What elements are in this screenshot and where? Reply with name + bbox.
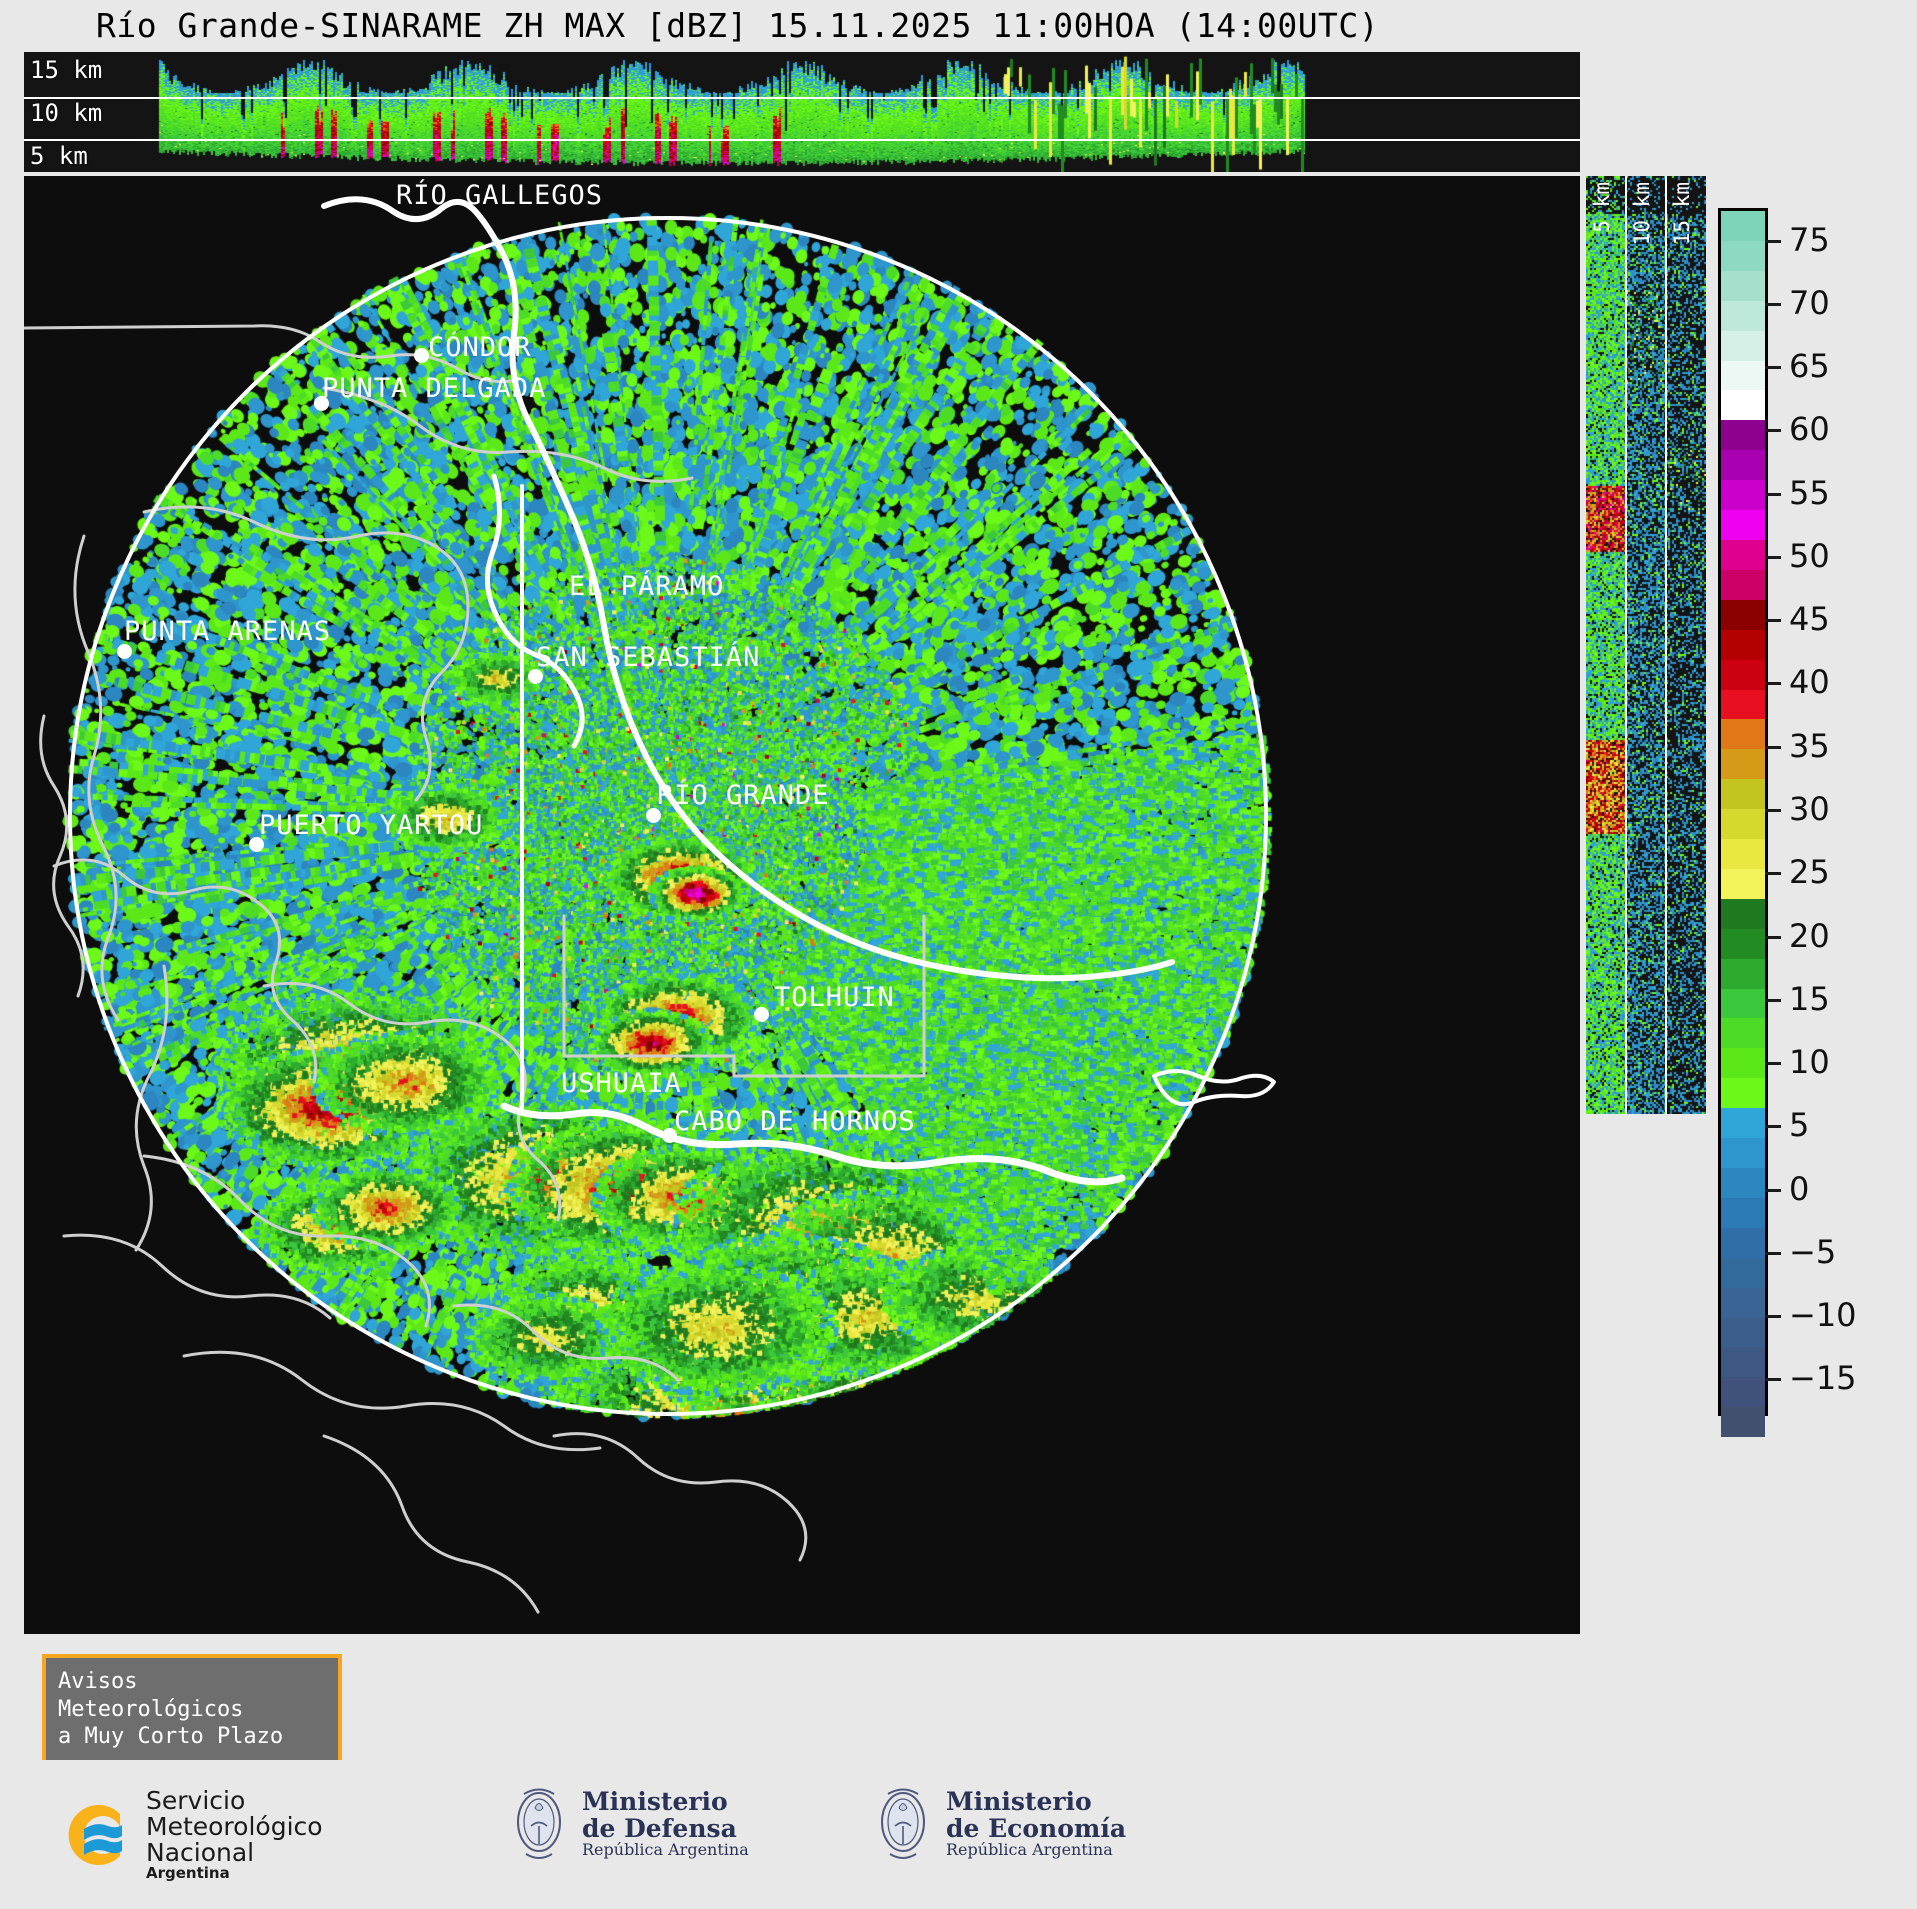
colorbar-swatch — [1721, 1048, 1765, 1078]
avisos-line-2: a Muy Corto Plazo — [58, 1723, 326, 1751]
colorbar-tick-label: 15 — [1789, 980, 1830, 1018]
defensa-line-2: de Defensa — [582, 1816, 749, 1842]
map-outline — [75, 536, 118, 1020]
range-ring — [70, 218, 1266, 1414]
economia-line-2: de Economía — [946, 1816, 1126, 1842]
map-outline — [41, 716, 83, 996]
colorbar-swatch — [1721, 420, 1765, 450]
colorbar-swatch — [1721, 989, 1765, 1019]
colorbar-swatch — [1721, 1377, 1765, 1407]
colorbar-swatch — [1721, 1407, 1765, 1437]
page-title: Río Grande-SINARAME ZH MAX [dBZ] 15.11.2… — [0, 6, 1917, 45]
colorbar-swatch — [1721, 331, 1765, 361]
colorbar-swatch — [1721, 719, 1765, 749]
colorbar-swatch — [1721, 869, 1765, 899]
colorbar-tick-label: 30 — [1789, 790, 1830, 828]
defensa-line-3: República Argentina — [582, 1842, 749, 1859]
smn-line-4: Argentina — [146, 1866, 323, 1882]
colorbar-swatch — [1721, 241, 1765, 271]
colorbar-tick-mark — [1765, 1189, 1781, 1192]
map-outline — [454, 1305, 678, 1380]
avisos-line-1: Avisos Meteorológicos — [58, 1668, 326, 1723]
radar-ppi-panel[interactable]: RÍO GALLEGOSCÓNDORPUNTA DELGADAEL PÁRAMO… — [24, 176, 1580, 1634]
colorbar-swatch — [1721, 1258, 1765, 1288]
colorbar-swatch — [1721, 1018, 1765, 1048]
argentina-shield-icon — [874, 1782, 932, 1866]
colorbar-swatch — [1721, 690, 1765, 720]
map-outline — [324, 1436, 538, 1612]
city-marker — [414, 348, 429, 363]
defensa-line-1: Ministerio — [582, 1789, 749, 1815]
colorbar-ticks: 757065605550454035302520151050−5−10−15 — [1765, 208, 1915, 1410]
colorbar-swatch — [1721, 749, 1765, 779]
colorbar-tick-label: 70 — [1789, 284, 1830, 322]
colorbar-tick-mark — [1765, 999, 1781, 1002]
colorbar-tick-mark — [1765, 429, 1781, 432]
colorbar-tick-mark — [1765, 1315, 1781, 1318]
map-outline — [136, 966, 167, 1250]
colorbar-swatch — [1721, 959, 1765, 989]
colorbar-swatch — [1721, 1228, 1765, 1258]
xs-gridline-5km — [24, 139, 1580, 141]
map-outline — [54, 860, 316, 1082]
smn-line-2: Meteorológico — [146, 1814, 323, 1840]
colorbar-swatch — [1721, 1108, 1765, 1138]
colorbar-tick-mark — [1765, 240, 1781, 243]
colorbar-swatch — [1721, 839, 1765, 869]
colorbar-swatch — [1721, 361, 1765, 391]
right-cross-section-panel: 5 km 10 km 15 km — [1586, 176, 1706, 1114]
map-outline — [24, 326, 518, 382]
map-outline — [144, 1156, 429, 1326]
colorbar-swatch — [1721, 1138, 1765, 1168]
map-outline — [504, 1106, 1122, 1182]
city-marker — [528, 669, 543, 684]
colorbar-tick-label: 45 — [1789, 600, 1830, 638]
colorbar-tick-mark — [1765, 619, 1781, 622]
colorbar-swatch — [1721, 510, 1765, 540]
colorbar-tick-mark — [1765, 746, 1781, 749]
colorbar-tick-label: −5 — [1789, 1233, 1836, 1271]
map-outline — [554, 1434, 806, 1560]
colorbar-tick-label: 75 — [1789, 221, 1830, 259]
colorbar-tick-mark — [1765, 682, 1781, 685]
colorbar-tick-mark — [1765, 556, 1781, 559]
map-outline — [564, 916, 924, 1076]
colorbar-swatch — [1721, 480, 1765, 510]
colorbar-tick-label: 35 — [1789, 727, 1830, 765]
colorbar-swatch — [1721, 1318, 1765, 1348]
colorbar-tick-label: 25 — [1789, 853, 1830, 891]
city-marker — [646, 808, 661, 823]
map-outline — [324, 388, 692, 481]
colorbar-swatch — [1721, 899, 1765, 929]
colorbar-swatch — [1721, 809, 1765, 839]
map-outline — [64, 1235, 330, 1318]
top-cross-section-panel: 15 km 10 km 5 km — [24, 52, 1580, 172]
colorbar-swatch — [1721, 600, 1765, 630]
map-outline — [324, 199, 1172, 978]
map-outline — [264, 983, 560, 1220]
colorbar-tick-label: 0 — [1789, 1170, 1809, 1208]
right-cross-section-canvas — [1586, 176, 1706, 1114]
argentina-shield-icon — [510, 1782, 568, 1866]
colorbar-swatch — [1721, 390, 1765, 420]
colorbar-tick-mark — [1765, 1378, 1781, 1381]
rxs-gridline-a — [1625, 176, 1627, 1114]
rxs-gridline-b — [1665, 176, 1667, 1114]
city-marker — [249, 837, 264, 852]
colorbar-swatch — [1721, 1168, 1765, 1198]
economia-line-1: Ministerio — [946, 1789, 1126, 1815]
colorbar-swatch — [1721, 630, 1765, 660]
economia-line-3: República Argentina — [946, 1842, 1126, 1859]
colorbar-swatch — [1721, 1347, 1765, 1377]
colorbar-tick-mark — [1765, 493, 1781, 496]
city-marker — [662, 1128, 677, 1143]
colorbar-tick-mark — [1765, 1125, 1781, 1128]
colorbar-tick-mark — [1765, 1062, 1781, 1065]
avisos-legend-box[interactable]: Avisos Meteorológicos a Muy Corto Plazo — [42, 1654, 342, 1765]
city-marker — [754, 1007, 769, 1022]
footer-logos: Servicio Meteorológico Nacional Argentin… — [0, 1760, 1917, 1909]
map-overlay — [24, 176, 1580, 1634]
colorbar-swatch — [1721, 271, 1765, 301]
colorbar-swatch — [1721, 450, 1765, 480]
colorbar-swatch — [1721, 779, 1765, 809]
colorbar-tick-label: 20 — [1789, 917, 1830, 955]
colorbar-tick-label: 65 — [1789, 347, 1830, 385]
colorbar-swatch — [1721, 211, 1765, 241]
colorbar-swatch — [1721, 540, 1765, 570]
colorbar-swatch — [1721, 1198, 1765, 1228]
colorbar-tick-mark — [1765, 809, 1781, 812]
colorbar-tick-label: 50 — [1789, 537, 1830, 575]
logo-ministerio-economia: Ministerio de Economía República Argenti… — [874, 1782, 1126, 1866]
map-outline — [144, 507, 468, 800]
colorbar-tick-label: 55 — [1789, 474, 1830, 512]
colorbar-swatch — [1721, 1078, 1765, 1108]
map-outline — [1154, 1071, 1274, 1104]
colorbar-tick-mark — [1765, 936, 1781, 939]
colorbar-swatch — [1721, 929, 1765, 959]
colorbar-tick-label: 60 — [1789, 410, 1830, 448]
colorbar-tick-mark — [1765, 366, 1781, 369]
smn-line-3: Nacional — [146, 1840, 323, 1866]
map-outline — [487, 476, 582, 746]
colorbar-tick-label: −15 — [1789, 1359, 1857, 1397]
xs-gridline-10km — [24, 97, 1580, 99]
colorbar-swatch — [1721, 660, 1765, 690]
colorbar-tick-mark — [1765, 1252, 1781, 1255]
colorbar-tick-label: 40 — [1789, 663, 1830, 701]
colorbar-tick-label: 10 — [1789, 1043, 1830, 1081]
logo-ministerio-defensa: Ministerio de Defensa República Argentin… — [510, 1782, 749, 1866]
colorbar-tick-mark — [1765, 872, 1781, 875]
colorbar-swatch — [1721, 570, 1765, 600]
logo-smn: Servicio Meteorológico Nacional Argentin… — [58, 1788, 323, 1882]
city-marker — [314, 396, 329, 411]
colorbar-swatch — [1721, 1288, 1765, 1318]
colorbar — [1718, 208, 1768, 1416]
city-marker — [117, 644, 132, 659]
colorbar-tick-mark — [1765, 303, 1781, 306]
top-cross-section-canvas — [24, 52, 1580, 172]
colorbar-tick-label: −10 — [1789, 1296, 1857, 1334]
colorbar-swatch — [1721, 301, 1765, 331]
smn-mark-icon — [58, 1796, 136, 1874]
smn-line-1: Servicio — [146, 1788, 323, 1814]
colorbar-tick-label: 5 — [1789, 1106, 1809, 1144]
